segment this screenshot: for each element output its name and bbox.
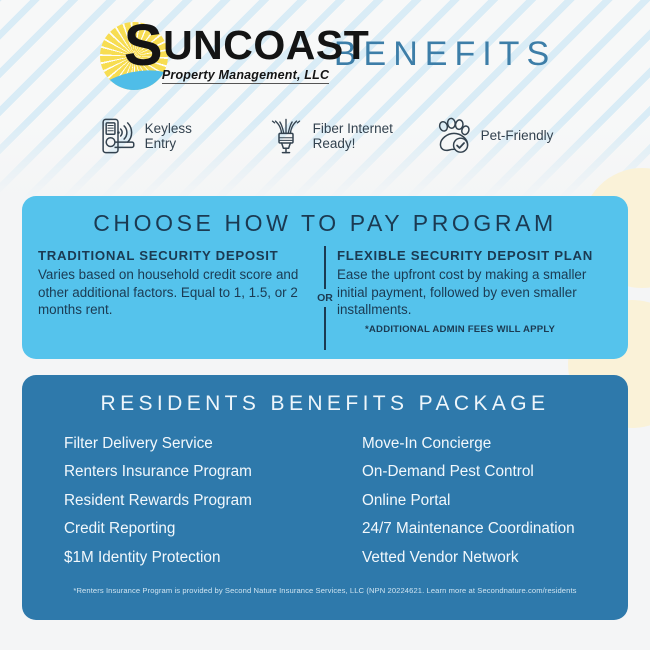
feature-label: Keyless Entry	[145, 121, 227, 152]
list-item: 24/7 Maintenance Coordination	[336, 515, 612, 544]
choose-how-to-pay-panel: CHOOSE HOW TO PAY PROGRAM TRADITIONAL SE…	[22, 196, 628, 359]
list-item: Credit Reporting	[38, 515, 314, 544]
pay-options-columns: TRADITIONAL SECURITY DEPOSIT Varies base…	[22, 248, 628, 335]
option-heading: TRADITIONAL SECURITY DEPOSIT	[38, 248, 313, 263]
benefits-column-right: Move-In Concierge On-Demand Pest Control…	[314, 429, 612, 572]
logo-wordmark-initial: S	[124, 13, 163, 78]
feature-fiber-internet: Fiber Internet Ready!	[265, 115, 395, 157]
header: SUNCOAST Property Management, LLC BENEFI…	[0, 8, 650, 104]
traditional-deposit-option: TRADITIONAL SECURITY DEPOSIT Varies base…	[38, 248, 313, 335]
option-heading: FLEXIBLE SECURITY DEPOSIT PLAN	[337, 248, 612, 263]
paw-print-check-icon	[433, 115, 475, 157]
list-item: $1M Identity Protection	[38, 543, 314, 572]
fiber-internet-icon	[265, 115, 307, 157]
keyless-door-lock-icon	[97, 115, 139, 157]
logo-wordmark: SUNCOAST	[124, 21, 369, 70]
feature-keyless-entry: Keyless Entry	[97, 115, 227, 157]
list-item: Resident Rewards Program	[38, 486, 314, 515]
option-description: Varies based on household credit score a…	[38, 266, 313, 319]
rbp-panel-title: RESIDENTS BENEFITS PACKAGE	[22, 375, 628, 416]
feature-label: Fiber Internet Ready!	[313, 121, 395, 152]
residents-benefits-package-panel: RESIDENTS BENEFITS PACKAGE Filter Delive…	[22, 375, 628, 620]
or-divider: OR	[312, 246, 338, 350]
or-label: OR	[317, 289, 333, 307]
admin-fees-note: *ADDITIONAL ADMIN FEES WILL APPLY	[337, 324, 612, 335]
logo-wordmark-rest: UNCOAST	[163, 22, 369, 68]
flexible-deposit-option: FLEXIBLE SECURITY DEPOSIT PLAN Ease the …	[313, 248, 612, 335]
divider-line-top	[324, 246, 326, 289]
divider-line-bottom	[324, 307, 326, 350]
list-item: On-Demand Pest Control	[336, 458, 612, 487]
feature-label: Pet-Friendly	[481, 128, 554, 143]
benefits-column-left: Filter Delivery Service Renters Insuranc…	[38, 429, 314, 572]
renters-insurance-footnote: *Renters Insurance Program is provided b…	[22, 586, 628, 595]
logo-tagline: Property Management, LLC	[162, 68, 329, 84]
list-item: Filter Delivery Service	[38, 429, 314, 458]
feature-highlights-row: Keyless Entry	[0, 115, 650, 157]
list-item: Move-In Concierge	[336, 429, 612, 458]
list-item: Online Portal	[336, 486, 612, 515]
suncoast-logo: SUNCOAST Property Management, LLC	[94, 16, 320, 96]
list-item: Renters Insurance Program	[38, 458, 314, 487]
feature-pet-friendly: Pet-Friendly	[433, 115, 554, 157]
pay-panel-title: CHOOSE HOW TO PAY PROGRAM	[22, 196, 628, 237]
option-description: Ease the upfront cost by making a smalle…	[337, 266, 612, 319]
list-item: Vetted Vendor Network	[336, 543, 612, 572]
benefits-columns: Filter Delivery Service Renters Insuranc…	[22, 429, 628, 572]
